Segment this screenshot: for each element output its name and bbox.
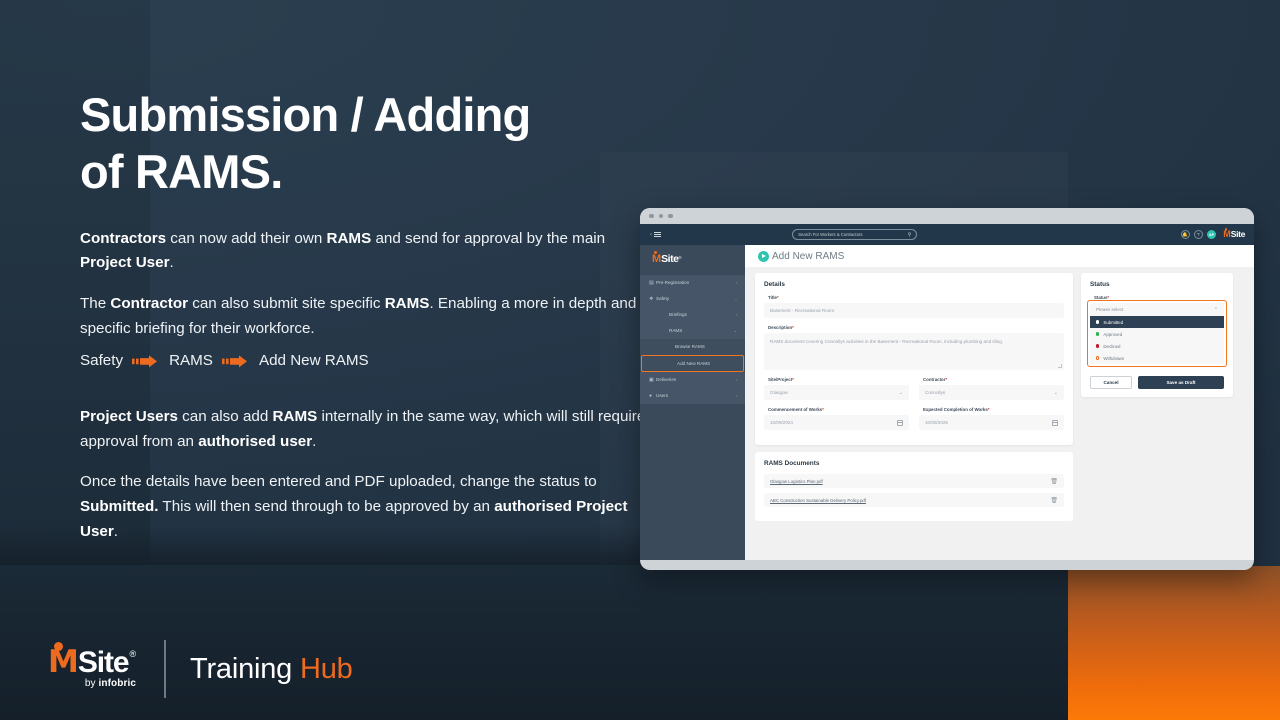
msite-logo-header: M Site xyxy=(1223,230,1245,238)
app-sidebar: M Site ® ▤Pre-Registration›❖Safety–Brief… xyxy=(640,245,745,560)
footer-divider xyxy=(164,640,166,698)
sidebar-logo-m: M xyxy=(652,255,661,265)
breadcrumb-item-safety: Safety xyxy=(80,352,123,369)
truck-icon: ▣ xyxy=(649,377,656,383)
byline-prefix: by xyxy=(85,678,99,689)
chevron-icon: › xyxy=(736,312,737,317)
required-mark: * xyxy=(822,407,824,412)
help-icon[interactable]: ? xyxy=(1194,230,1203,239)
chevron-up-icon: ⌃ xyxy=(1214,307,1218,313)
dates-row: Commencement of Works* 10/09/2024 xyxy=(764,407,1064,437)
site-contractor-row: Site/Project* Glasgow ⌄ Contra xyxy=(764,377,1064,407)
sidebar-item-briefings[interactable]: Briefings› xyxy=(640,307,745,323)
chevron-icon: › xyxy=(736,280,737,285)
window-close-dot[interactable] xyxy=(649,214,654,219)
search-icon: ⚲ xyxy=(908,232,912,238)
sidebar-item-label: Briefings xyxy=(669,312,687,317)
page-header: Add New RAMS xyxy=(745,245,1254,267)
status-option-submitted[interactable]: Submitted xyxy=(1090,316,1224,328)
sidebar-logo: M Site ® xyxy=(640,245,745,275)
title-line-2: of RAMS. xyxy=(80,143,660,200)
paragraph-2: The Contractor can also submit site spec… xyxy=(80,292,660,341)
contractor-field-label: Contractor* xyxy=(919,377,1064,382)
sidebar-logo-site: Site xyxy=(661,255,678,265)
status-select-trigger[interactable]: Please select ⌃ xyxy=(1090,303,1224,316)
required-mark: * xyxy=(945,377,947,382)
sidebar-item-safety[interactable]: ❖Safety– xyxy=(640,291,745,307)
body-copy: Contractors can now add their own RAMS a… xyxy=(80,227,660,545)
sidebar-item-label: Pre-Registration xyxy=(656,280,689,285)
status-option-declined[interactable]: Declined xyxy=(1090,340,1224,352)
chevron-icon: › xyxy=(736,377,737,382)
topbar-actions: 🔔 ? AP M Site xyxy=(1181,230,1245,240)
sidebar-item-users[interactable]: ●Users› xyxy=(640,388,745,404)
content-column: Submission / Adding of RAMS. Contractors… xyxy=(80,86,660,560)
app-viewport: ‹ Search For Workers & Contractors ⚲ 🔔 ?… xyxy=(640,224,1254,560)
sidebar-item-label: Add New RAMS xyxy=(677,361,710,366)
required-mark: * xyxy=(988,407,990,412)
status-option-approved[interactable]: Approved xyxy=(1090,328,1224,340)
sidebar-item-label: Browse RAMS xyxy=(675,344,705,349)
hamburger-icon[interactable]: ‹ xyxy=(650,232,661,238)
play-circle-icon xyxy=(758,251,769,262)
app-screenshot-window: ‹ Search For Workers & Contractors ⚲ 🔔 ?… xyxy=(640,208,1254,570)
required-mark: * xyxy=(792,377,794,382)
spacer xyxy=(80,369,660,405)
trash-icon[interactable]: 🗑 xyxy=(1050,478,1058,485)
sidebar-item-add-new-rams[interactable]: Add New RAMS xyxy=(641,355,744,372)
status-field-label: Status* xyxy=(1090,295,1224,300)
status-option-label: Submitted xyxy=(1103,320,1123,325)
chevron-down-icon: ⌄ xyxy=(1054,390,1058,396)
document-row[interactable]: ABC Construction Sustainable Delivery Po… xyxy=(764,493,1064,507)
site-select[interactable]: Glasgow ⌄ xyxy=(764,385,909,400)
footer-logo: M Site ® by infobric Training Hub xyxy=(48,640,353,698)
msite-dot-icon xyxy=(54,642,63,651)
breadcrumb-item-add-new-rams: Add New RAMS xyxy=(259,352,369,369)
status-actions: Cancel Save as Draft xyxy=(1090,376,1224,389)
title-line-1: Submission / Adding xyxy=(80,88,530,141)
bell-icon[interactable]: 🔔 xyxy=(1181,230,1190,239)
hub-word: Hub xyxy=(300,653,353,685)
status-option-label: Declined xyxy=(1103,344,1120,349)
sidebar-nav: ▤Pre-Registration›❖Safety–Briefings›RAMS… xyxy=(640,275,745,404)
description-value: RAMS document covering Connollys activit… xyxy=(770,339,1003,344)
breadcrumb: Safety RAMS Add New RAMS xyxy=(80,352,660,369)
search-placeholder: Search For Workers & Contractors xyxy=(798,232,862,237)
sidebar-item-rams[interactable]: RAMS⌄ xyxy=(640,323,745,339)
avatar[interactable]: AP xyxy=(1207,230,1217,240)
app-topbar: ‹ Search For Workers & Contractors ⚲ 🔔 ?… xyxy=(640,224,1254,245)
content-scroll: Details Title* Basement - Recreational R… xyxy=(745,267,1254,521)
sidebar-item-label: Safety xyxy=(656,296,669,301)
rams-documents-card: RAMS Documents Glasgow Logistics Plan.pd… xyxy=(755,452,1073,521)
training-word: Training xyxy=(190,653,300,685)
training-hub-wordmark: Training Hub xyxy=(190,653,353,686)
sidebar-item-deliveries[interactable]: ▣Deliveries› xyxy=(640,372,745,388)
app-content: Add New RAMS Details Title* Basement - R… xyxy=(745,245,1254,560)
breadcrumb-item-rams: RAMS xyxy=(169,352,213,369)
required-mark: * xyxy=(1107,295,1109,300)
sidebar-item-label: Deliveries xyxy=(656,377,676,382)
calendar-icon[interactable] xyxy=(1052,420,1058,426)
status-option-label: Approved xyxy=(1103,332,1122,337)
orange-accent-block xyxy=(1068,566,1280,720)
commencement-value: 10/09/2024 xyxy=(770,420,793,425)
status-heading: Status xyxy=(1090,281,1224,288)
chevron-icon: – xyxy=(735,296,737,301)
status-dot-icon xyxy=(1096,332,1099,335)
sidebar-item-label: RAMS xyxy=(669,328,682,333)
arrow-icon xyxy=(132,355,160,368)
user-icon: ● xyxy=(649,393,656,399)
chevron-icon: › xyxy=(736,393,737,398)
trash-icon[interactable]: 🗑 xyxy=(1050,497,1058,504)
status-option-label: Withdrawn xyxy=(1103,356,1124,361)
status-dot-icon xyxy=(1096,320,1099,323)
chevron-icon: ⌄ xyxy=(734,328,737,333)
window-chrome xyxy=(640,208,1254,224)
description-textarea[interactable]: RAMS document covering Connollys activit… xyxy=(764,333,1064,370)
status-dropdown[interactable]: Please select ⌃ SubmittedApprovedDecline… xyxy=(1090,303,1224,364)
completion-date-input[interactable]: 10/09/2025 xyxy=(919,415,1064,430)
document-row[interactable]: Glasgow Logistics Plan.pdf🗑 xyxy=(764,474,1064,488)
chevron-down-icon: ⌄ xyxy=(899,390,903,396)
commencement-field-label: Commencement of Works* xyxy=(764,407,909,412)
documents-list: Glasgow Logistics Plan.pdf🗑ABC Construct… xyxy=(764,474,1064,507)
required-mark: * xyxy=(792,325,794,330)
app-page-title: Add New RAMS xyxy=(772,251,844,262)
sidebar-item-pre-registration[interactable]: ▤Pre-Registration› xyxy=(640,275,745,291)
window-minimize-dot[interactable] xyxy=(659,214,664,219)
msite-logo-reg: ® xyxy=(129,649,136,659)
site-value: Glasgow xyxy=(770,390,788,395)
details-heading: Details xyxy=(764,281,1064,288)
status-dot-icon xyxy=(1096,356,1099,359)
commencement-date-input[interactable]: 10/09/2024 xyxy=(764,415,909,430)
resize-grip-icon[interactable] xyxy=(1058,364,1062,368)
page-title: Submission / Adding of RAMS. xyxy=(80,86,660,201)
msite-logo-m: M xyxy=(48,649,78,676)
status-card: Status Status* Please select ⌃ Submitted… xyxy=(1081,273,1233,397)
status-option-list: SubmittedApprovedDeclinedWithdrawn xyxy=(1090,316,1224,364)
shield-icon: ❖ xyxy=(649,296,656,302)
completion-value: 10/09/2025 xyxy=(925,420,948,425)
sidebar-logo-reg: ® xyxy=(678,255,681,260)
msite-logo-site: Site xyxy=(78,649,129,677)
status-dot-icon xyxy=(1096,344,1099,347)
paragraph-3: Project Users can also add RAMS internal… xyxy=(80,405,660,454)
save-as-draft-button[interactable]: Save as Draft xyxy=(1138,376,1224,389)
required-mark: * xyxy=(777,295,779,300)
cancel-button[interactable]: Cancel xyxy=(1090,376,1132,389)
contractor-select[interactable]: Connollys ⌄ xyxy=(919,385,1064,400)
header-logo-m: M xyxy=(1223,230,1231,238)
status-option-withdrawn[interactable]: Withdrawn xyxy=(1090,352,1224,364)
document-link[interactable]: ABC Construction Sustainable Delivery Po… xyxy=(770,498,866,503)
calendar-icon[interactable] xyxy=(897,420,903,426)
details-card: Details Title* Basement - Recreational R… xyxy=(755,273,1073,445)
app-main: M Site ® ▤Pre-Registration›❖Safety–Brief… xyxy=(640,245,1254,560)
completion-field-label: Expected Completion of Works* xyxy=(919,407,1064,412)
paragraph-4: Once the details have been entered and P… xyxy=(80,470,660,544)
title-field-label: Title* xyxy=(764,295,1064,300)
sidebar-item-browse-rams[interactable]: Browse RAMS xyxy=(640,339,745,355)
paragraph-1: Contractors can now add their own RAMS a… xyxy=(80,227,660,276)
byline-brand: infobric xyxy=(99,678,136,689)
title-input[interactable]: Basement - Recreational Room xyxy=(764,303,1064,318)
header-logo-site: Site xyxy=(1231,231,1245,239)
site-field-label: Site/Project* xyxy=(764,377,909,382)
msite-logo: M Site ® by infobric xyxy=(48,649,136,690)
title-value: Basement - Recreational Room xyxy=(770,308,834,313)
status-selected-text: Please select xyxy=(1096,307,1123,312)
register-icon: ▤ xyxy=(649,280,656,286)
cards-row: Details Title* Basement - Recreational R… xyxy=(745,267,1254,445)
search-input[interactable]: Search For Workers & Contractors ⚲ xyxy=(792,229,917,240)
document-link[interactable]: Glasgow Logistics Plan.pdf xyxy=(770,479,823,484)
sidebar-item-label: Users xyxy=(656,393,668,398)
window-maximize-dot[interactable] xyxy=(668,214,673,219)
arrow-icon xyxy=(222,355,250,368)
contractor-value: Connollys xyxy=(925,390,945,395)
documents-heading: RAMS Documents xyxy=(764,460,1064,467)
description-field-label: Description* xyxy=(764,325,1064,330)
